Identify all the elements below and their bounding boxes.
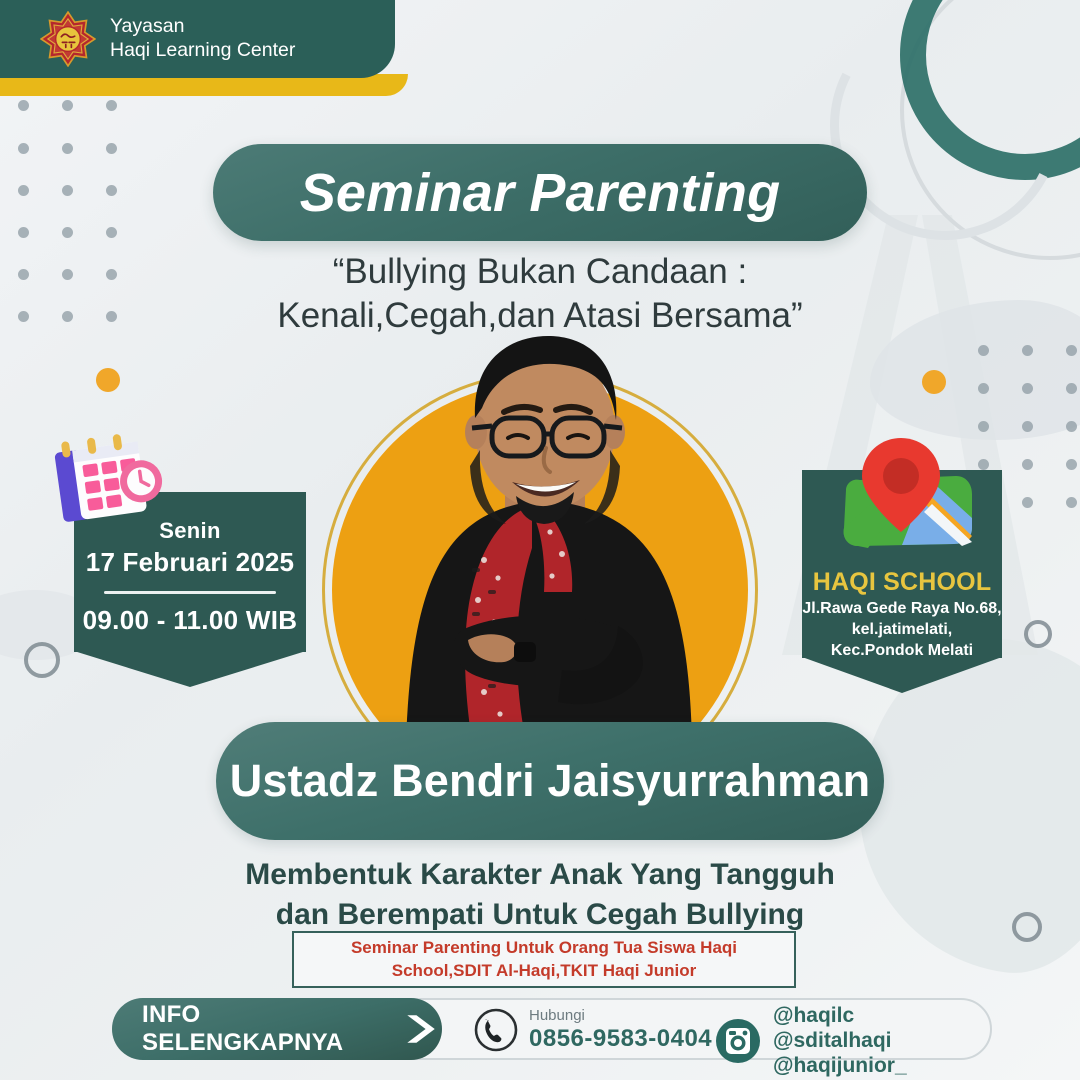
location-badge-point — [802, 657, 1002, 693]
seminar-subtitle: “Bullying Bukan Candaan : Kenali,Cegah,d… — [0, 250, 1080, 339]
dot-orange-right — [922, 370, 946, 394]
speaker-name-banner: Ustadz Bendri Jaisyurrahman — [216, 722, 884, 840]
subtitle-line-2: Kenali,Cegah,dan Atasi Bersama” — [0, 294, 1080, 338]
calendar-clock-icon — [44, 424, 170, 529]
ring-decor-teal — [900, 0, 1080, 180]
event-date: 17 Februari 2025 — [74, 547, 306, 578]
instagram-icon — [714, 1017, 762, 1065]
address-line-2: kel.jatimelati, — [802, 619, 1002, 640]
audience-line-2: School,SDIT Al-Haqi,TKIT Haqi Junior — [392, 961, 696, 980]
date-badge-point — [74, 651, 306, 687]
phone-contact-group[interactable]: Hubungi 0856-9583-0404 — [474, 1008, 712, 1052]
dot-orange-left — [96, 368, 120, 392]
circle-outline-left — [24, 642, 60, 678]
seminar-title-banner: Seminar Parenting — [213, 144, 867, 241]
tagline-line-2: dan Berempati Untuk Cegah Bullying — [0, 895, 1080, 935]
haqi-star-logo-icon — [40, 11, 96, 67]
poster-canvas: Yayasan Haqi Learning Center Seminar Par… — [0, 0, 1080, 1080]
speaker-photo — [300, 310, 790, 750]
header-line-2: Haqi Learning Center — [110, 39, 295, 63]
tagline-line-1: Membentuk Karakter Anak Yang Tangguh — [0, 855, 1080, 895]
instagram-group[interactable]: @haqilc @sditalhaqi @haqijunior_ — [714, 1004, 907, 1078]
ring-decor-gray — [900, 0, 1080, 260]
subtitle-line-1: “Bullying Bukan Candaan : — [0, 250, 1080, 294]
instagram-handle-2: @sditalhaqi — [773, 1029, 907, 1054]
phone-label: Hubungi — [529, 1008, 712, 1025]
instagram-handles: @haqilc @sditalhaqi @haqijunior_ — [773, 1004, 907, 1078]
event-time: 09.00 - 11.00 WIB — [74, 605, 306, 636]
audience-note-box: Seminar Parenting Untuk Orang Tua Siswa … — [292, 931, 796, 988]
header-line-1: Yayasan — [110, 15, 295, 39]
map-pin-icon — [806, 432, 996, 572]
date-badge-divider — [104, 591, 276, 594]
location-address: Jl.Rawa Gede Raya No.68, kel.jatimelati,… — [802, 598, 1002, 661]
address-line-1: Jl.Rawa Gede Raya No.68, — [802, 598, 1002, 619]
audience-line-1: Seminar Parenting Untuk Orang Tua Siswa … — [351, 938, 737, 957]
address-line-3: Kec.Pondok Melati — [802, 640, 1002, 661]
speaker-name: Ustadz Bendri Jaisyurrahman — [230, 755, 871, 807]
phone-text-block: Hubungi 0856-9583-0404 — [529, 1008, 712, 1052]
info-selengkapnya-button[interactable]: INFO SELENGKAPNYA — [112, 998, 442, 1060]
circle-outline-right-top — [1024, 620, 1052, 648]
instagram-handle-3: @haqijunior_ — [773, 1054, 907, 1079]
header-bar: Yayasan Haqi Learning Center — [0, 0, 395, 78]
header-title-block: Yayasan Haqi Learning Center — [110, 15, 295, 63]
page-title: Seminar Parenting — [300, 162, 781, 224]
phone-number: 0856-9583-0404 — [529, 1025, 712, 1053]
phone-icon — [474, 1008, 518, 1052]
info-button-label: INFO SELENGKAPNYA — [142, 1001, 386, 1057]
speaker-tagline: Membentuk Karakter Anak Yang Tangguh dan… — [0, 855, 1080, 935]
location-name: HAQI SCHOOL — [802, 568, 1002, 597]
footer-contact-bar: INFO SELENGKAPNYA Hubungi 0856-9583-0404 — [112, 998, 992, 1060]
chevron-right-icon — [400, 1010, 442, 1048]
instagram-handle-1: @haqilc — [773, 1004, 907, 1029]
audience-note: Seminar Parenting Untuk Orang Tua Siswa … — [351, 937, 737, 983]
